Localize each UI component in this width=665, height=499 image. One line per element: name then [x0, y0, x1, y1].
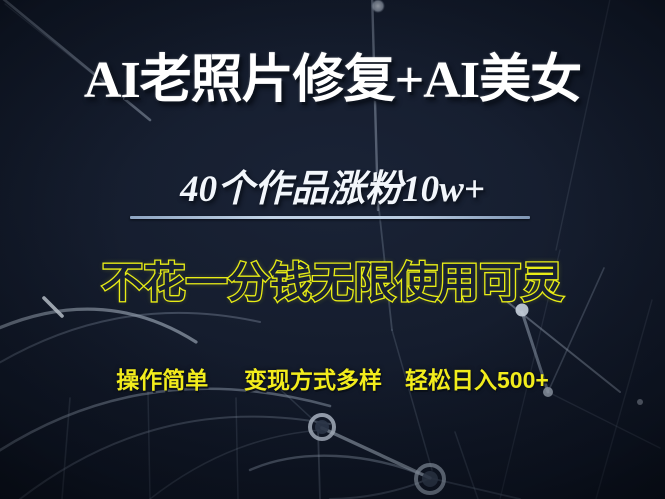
subheadline: 40个作品涨粉10w+ — [180, 168, 485, 212]
hollow-headline: 不花一分钱无限使用可灵 — [0, 258, 665, 308]
subheadline-underline — [130, 216, 530, 219]
page-title: AI老照片修复+AI美女 — [0, 50, 665, 112]
subheadline-wrapper: 40个作品涨粉10w+ — [0, 168, 665, 212]
poster-content: AI老照片修复+AI美女 40个作品涨粉10w+ 不花一分钱无限使用可灵 操作简… — [0, 0, 665, 499]
promo-poster: AI老照片修复+AI美女 40个作品涨粉10w+ 不花一分钱无限使用可灵 操作简… — [0, 0, 665, 499]
footer-benefits: 操作简单 变现方式多样 轻松日入500+ — [0, 365, 665, 395]
